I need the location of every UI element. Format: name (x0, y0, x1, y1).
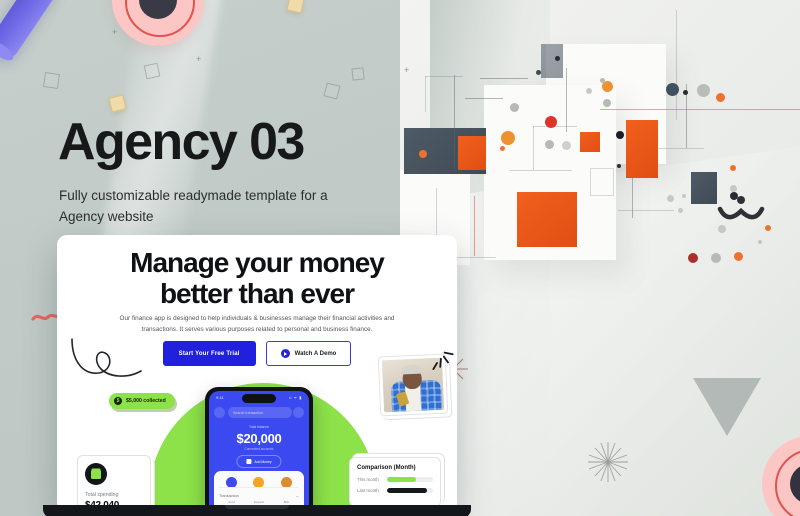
transaction-label: Transaction (219, 494, 239, 498)
device-base-bezel (43, 505, 471, 516)
art-dot-red-1 (545, 116, 557, 128)
art-line-v6 (632, 178, 633, 218)
art-dot-gray-10 (678, 208, 683, 213)
art-dot-gray-1 (697, 84, 710, 97)
comparison-this-month-label: This month (357, 477, 383, 482)
art-line-v3 (566, 68, 567, 132)
art-dot-orange-2 (716, 93, 725, 102)
comparison-title: Comparison (Month) (357, 465, 433, 471)
watch-demo-label: Watch A Demo (295, 351, 337, 357)
photo-card (378, 354, 449, 417)
starburst-icon (586, 440, 630, 484)
phone-status-time: 9:41 (216, 395, 224, 400)
art-dot-black-1 (683, 90, 688, 95)
dollar-coin-icon (114, 397, 122, 405)
chevron-right-icon: → (295, 494, 299, 498)
art-dot-orange-4 (500, 146, 505, 151)
phone-menu-icon[interactable] (214, 407, 225, 418)
art-orange-small-left (458, 136, 486, 170)
square-outline-4 (351, 67, 364, 80)
art-dot-gray-4 (510, 103, 519, 112)
phone-balance-label: Total balance (209, 425, 309, 429)
add-money-button[interactable]: Add Money (236, 455, 281, 468)
phone-search-placeholder: Search transaction (233, 411, 263, 415)
art-orange-large (517, 192, 577, 247)
phone-notch (242, 394, 276, 403)
comparison-this-month-bar (387, 477, 433, 482)
art-dot-gray-6 (562, 141, 571, 150)
art-line-h1 (425, 76, 463, 77)
art-dot-gray-13 (718, 225, 726, 233)
mockup-paragraph: Our finance app is designed to help indi… (119, 313, 395, 335)
art-dot-black-3 (617, 164, 621, 168)
wallet-icon (85, 463, 107, 485)
art-dot-gray-11 (758, 240, 762, 244)
art-line-v4 (533, 126, 534, 170)
photo-person-hair (401, 365, 422, 375)
art-dot-orange-5 (419, 150, 427, 158)
collected-badge: $5,000 collected (109, 393, 175, 409)
art-dot-gray-12 (711, 253, 721, 263)
art-dot-gray-9 (667, 195, 674, 202)
add-money-label: Add Money (254, 460, 271, 464)
transaction-row[interactable]: Transaction → (219, 487, 299, 501)
sparkle-icon (430, 346, 457, 373)
comparison-last-month-label: Last month (357, 488, 383, 493)
collected-badge-label: $5,000 collected (126, 398, 166, 404)
phone-search-input[interactable]: Search transaction (228, 407, 292, 418)
abstract-artwork (400, 0, 800, 300)
phone-notification-icon[interactable] (293, 407, 304, 418)
art-dot-orange-8 (734, 252, 743, 261)
mustache-icon (718, 196, 764, 222)
phone-status-icons: ıl ᯤ ▮ (289, 395, 302, 401)
phone-mockup: 9:41 ıl ᯤ ▮ Search transaction Total bal… (205, 387, 313, 507)
page-title: Agency 03 (58, 116, 304, 168)
art-dot-gray-3 (600, 78, 605, 83)
plus-mark-3: + (404, 66, 409, 75)
plus-mark-1: + (112, 28, 117, 37)
total-spending-label: Total spending (85, 492, 143, 498)
play-icon (281, 349, 290, 358)
art-dot-black-5 (536, 70, 541, 75)
art-dot-gray-7 (586, 88, 592, 94)
art-line-h5 (510, 170, 572, 171)
preview-stage: + + + Agency 03 Fully customizable r (0, 0, 800, 516)
art-line-v1 (454, 75, 455, 171)
art-orange-tiny (580, 132, 600, 152)
page-subtitle: Fully customizable readymade template fo… (59, 186, 349, 228)
art-line-h3 (465, 98, 503, 99)
start-free-trial-button[interactable]: Start Your Free Trial (163, 341, 256, 366)
art-dot-gray-2 (603, 99, 611, 107)
art-dot-orange-6 (730, 165, 736, 171)
phone-screen: 9:41 ıl ᯤ ▮ Search transaction Total bal… (209, 391, 309, 507)
art-line-h2 (480, 78, 528, 79)
square-outline-1 (43, 72, 60, 89)
mockup-headline-line1: Manage your money (57, 247, 457, 278)
art-line-red-v (474, 196, 475, 256)
art-line-h6 (656, 148, 704, 149)
phone-balance-amount: $20,000 (209, 431, 309, 446)
art-line-red-h (600, 109, 800, 110)
mockup-headline: Manage your money better than ever (57, 247, 457, 310)
comparison-row-this-month: This month (357, 477, 433, 482)
comparison-last-month-bar (387, 488, 433, 493)
phone-balance-sub: Connected accounts (209, 447, 309, 451)
phone-bottom-sheet: Send Request Bills (214, 471, 304, 507)
art-dot-black-2 (616, 131, 624, 139)
art-line-v7 (676, 10, 677, 120)
comparison-card: Comparison (Month) This month Last month (349, 457, 441, 507)
art-dot-black-4 (555, 56, 560, 61)
art-dot-gray-8 (730, 185, 737, 192)
art-dot-gray-14 (682, 194, 686, 198)
mockup-headline-line2: better than ever (57, 278, 457, 309)
device-mockup: Manage your money better than ever Our f… (57, 235, 457, 507)
square-outline-2 (144, 63, 161, 80)
art-dot-orange-7 (765, 225, 771, 231)
art-dot-orange-3 (501, 131, 515, 145)
comparison-row-last-month: Last month (357, 488, 433, 493)
art-slate-right (691, 172, 717, 204)
watch-demo-button[interactable]: Watch A Demo (266, 341, 352, 366)
art-slate-top (541, 44, 563, 78)
art-sheet-small (590, 168, 614, 196)
triangle-prop (693, 378, 761, 436)
art-orange-tall (626, 120, 658, 178)
device-screen: Manage your money better than ever Our f… (57, 235, 457, 507)
art-dot-red-2 (688, 253, 698, 263)
plus-mark-2: + (196, 55, 201, 64)
art-dot-slate-1 (666, 83, 679, 96)
arrow-doodle-icon (69, 333, 145, 389)
art-dot-gray-5 (545, 140, 554, 149)
total-spending-card: Total spending $42,040 (77, 455, 151, 507)
art-line-h7 (618, 210, 674, 211)
art-line-v2 (425, 76, 426, 112)
